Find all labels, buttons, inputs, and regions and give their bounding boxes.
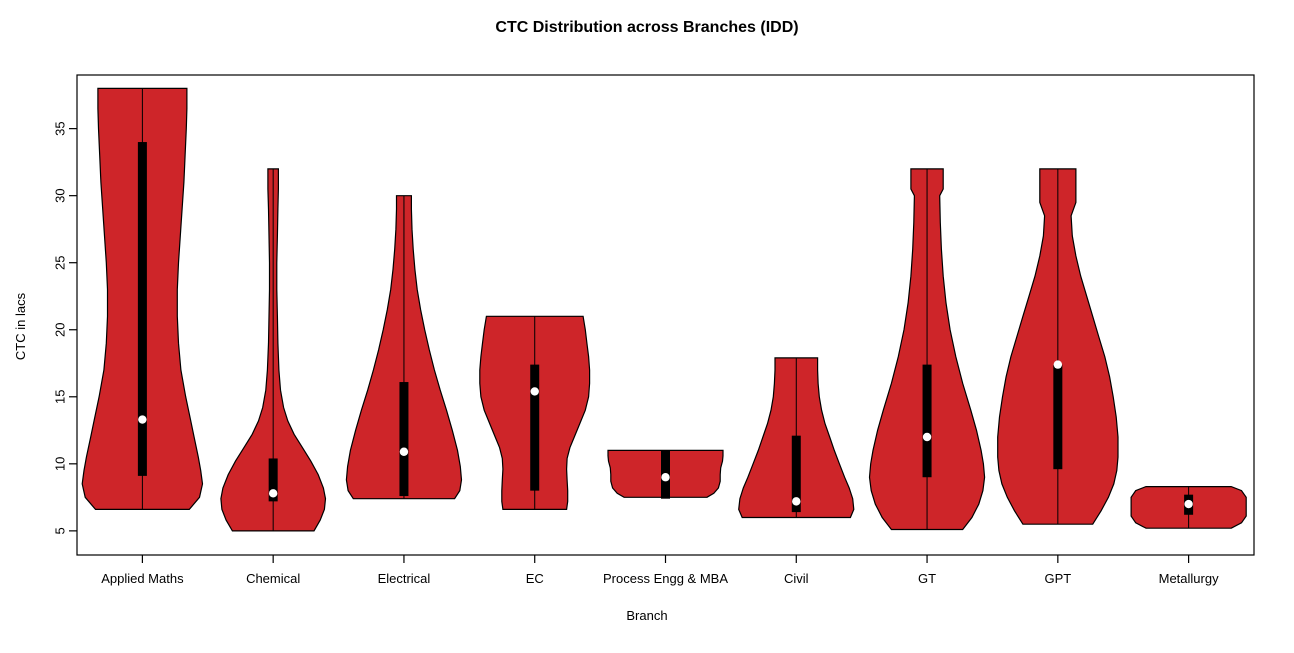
y-tick-label: 30: [52, 188, 67, 202]
plot-canvas: 5101520253035Applied MathsChemicalElectr…: [0, 0, 1294, 653]
x-tick-label-chemical: Chemical: [246, 571, 300, 586]
median-dot: [792, 497, 800, 505]
median-dot: [1054, 360, 1062, 368]
median-dot: [1184, 500, 1192, 508]
x-tick-label-process-engg-mba: Process Engg & MBA: [603, 571, 728, 586]
iqr-box: [138, 142, 147, 476]
median-dot: [531, 387, 539, 395]
median-dot: [923, 433, 931, 441]
y-tick-label: 10: [52, 457, 67, 471]
y-tick-label: 20: [52, 323, 67, 337]
median-dot: [400, 448, 408, 456]
x-tick-label-metallurgy: Metallurgy: [1159, 571, 1219, 586]
iqr-box: [530, 365, 539, 491]
y-tick-label: 35: [52, 121, 67, 135]
violin-chart: CTC Distribution across Branches (IDD) C…: [0, 0, 1294, 653]
x-tick-label-gt: GT: [918, 571, 936, 586]
y-tick-label: 25: [52, 255, 67, 269]
iqr-box: [923, 365, 932, 478]
iqr-box: [399, 382, 408, 496]
iqr-box: [1053, 365, 1062, 470]
x-tick-label-ec: EC: [526, 571, 544, 586]
y-tick-label: 15: [52, 390, 67, 404]
x-tick-label-applied-maths: Applied Maths: [101, 571, 184, 586]
violins-group: [82, 88, 1246, 531]
x-tick-label-civil: Civil: [784, 571, 809, 586]
median-dot: [138, 415, 146, 423]
x-tick-label-electrical: Electrical: [378, 571, 431, 586]
median-dot: [661, 473, 669, 481]
y-tick-label: 5: [52, 527, 67, 534]
median-dot: [269, 489, 277, 497]
x-tick-label-gpt: GPT: [1044, 571, 1071, 586]
